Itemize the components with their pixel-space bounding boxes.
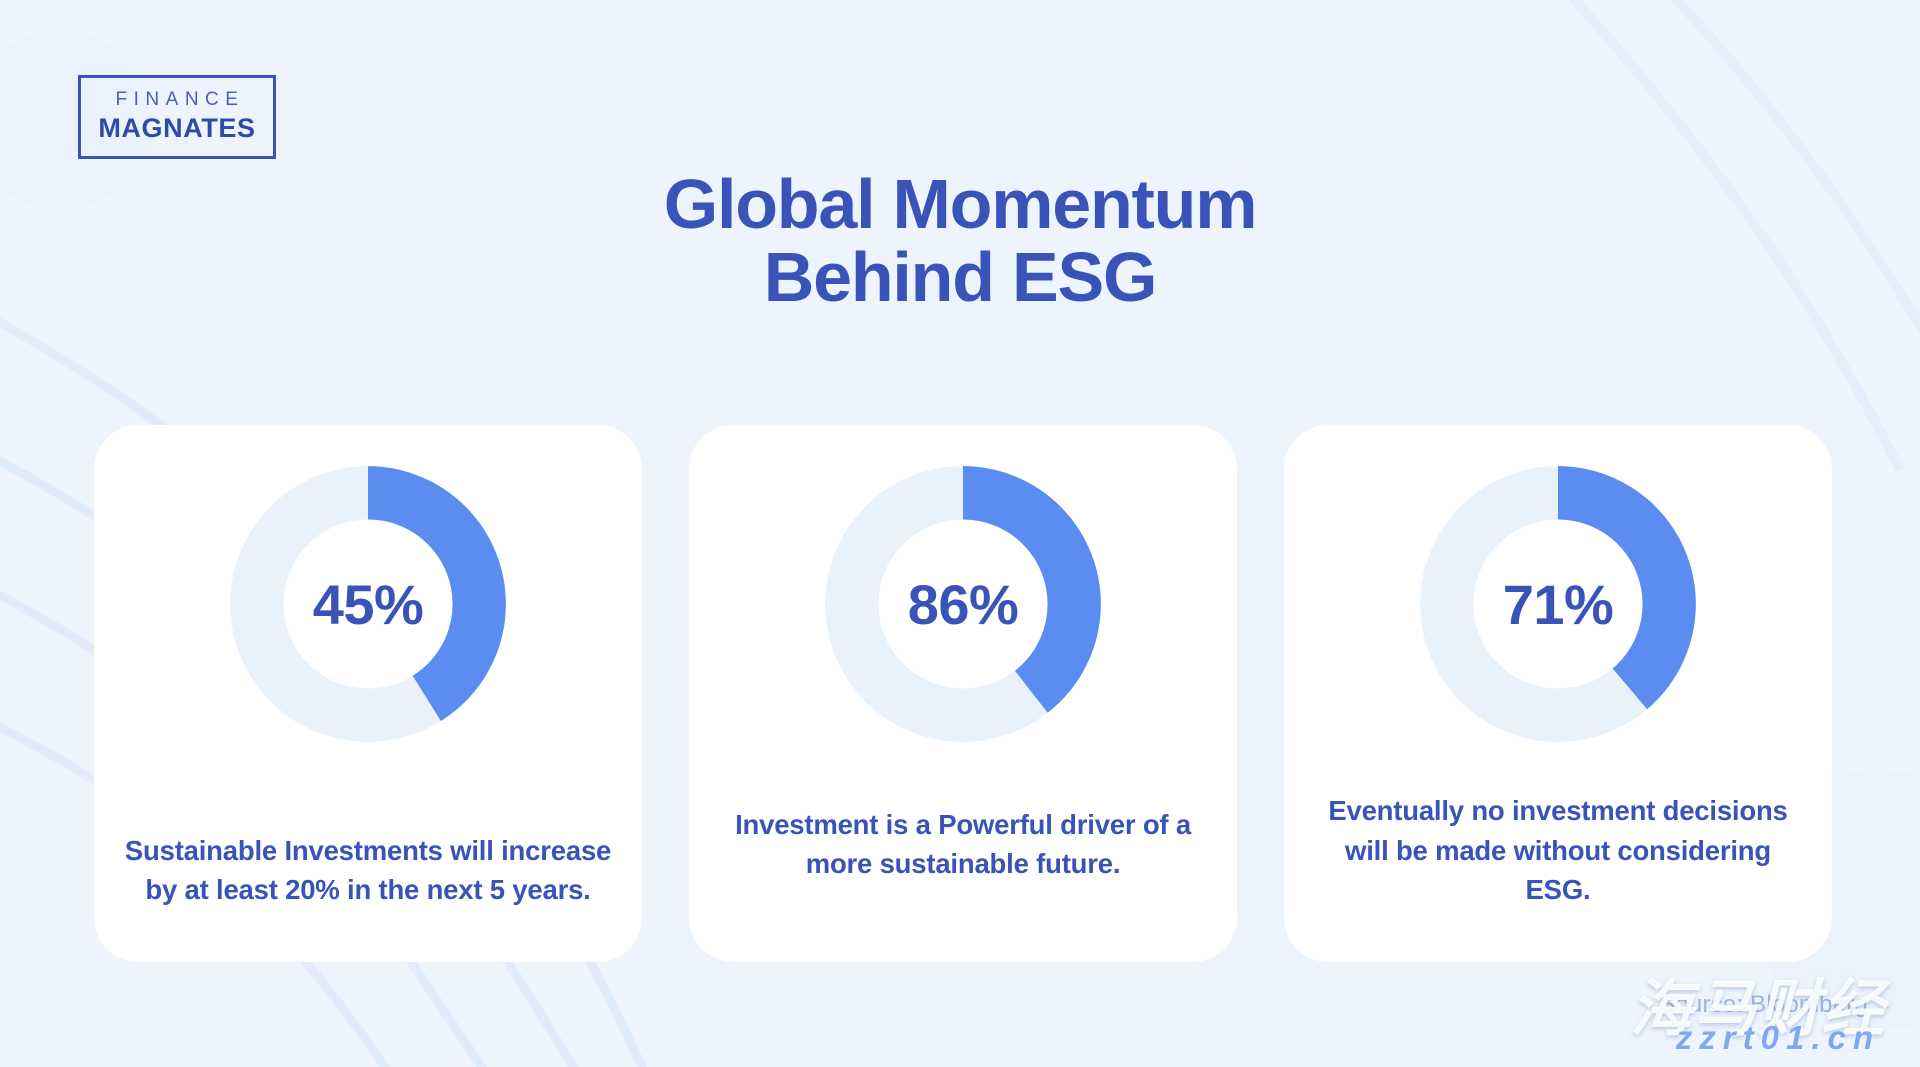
infographic-canvas: FINANCE MAGNATES Global Momentum Behind … bbox=[0, 0, 1920, 1067]
donut-chart: 71% bbox=[1419, 465, 1697, 743]
page-title-line1: Global Momentum bbox=[0, 168, 1920, 241]
donut-chart: 86% bbox=[824, 465, 1102, 743]
brand-logo-line1: FINANCE bbox=[110, 90, 245, 111]
stat-card: 45% Sustainable Investments will increas… bbox=[94, 425, 642, 962]
donut-value-label: 86% bbox=[824, 465, 1102, 743]
watermark-url-text: zzrt01.cn bbox=[1676, 1019, 1880, 1057]
stat-card-caption: Sustainable Investments will increase by… bbox=[94, 831, 642, 962]
stat-card-row: 45% Sustainable Investments will increas… bbox=[94, 425, 1832, 962]
brand-logo-line2: MAGNATES bbox=[98, 113, 255, 144]
stat-card-caption: Eventually no investment decisions will … bbox=[1284, 791, 1832, 962]
donut-chart: 45% bbox=[229, 465, 507, 743]
donut-value-label: 45% bbox=[229, 465, 507, 743]
page-title: Global Momentum Behind ESG bbox=[0, 168, 1920, 314]
page-title-line2: Behind ESG bbox=[0, 241, 1920, 314]
source-attribution: Source: Bloomberg bbox=[1659, 991, 1868, 1019]
brand-logo[interactable]: FINANCE MAGNATES bbox=[78, 75, 276, 159]
donut-value-label: 71% bbox=[1419, 465, 1697, 743]
stat-card-caption: Investment is a Powerful driver of a mor… bbox=[689, 805, 1237, 962]
stat-card: 86% Investment is a Powerful driver of a… bbox=[689, 425, 1237, 962]
stat-card: 71% Eventually no investment decisions w… bbox=[1284, 425, 1832, 962]
